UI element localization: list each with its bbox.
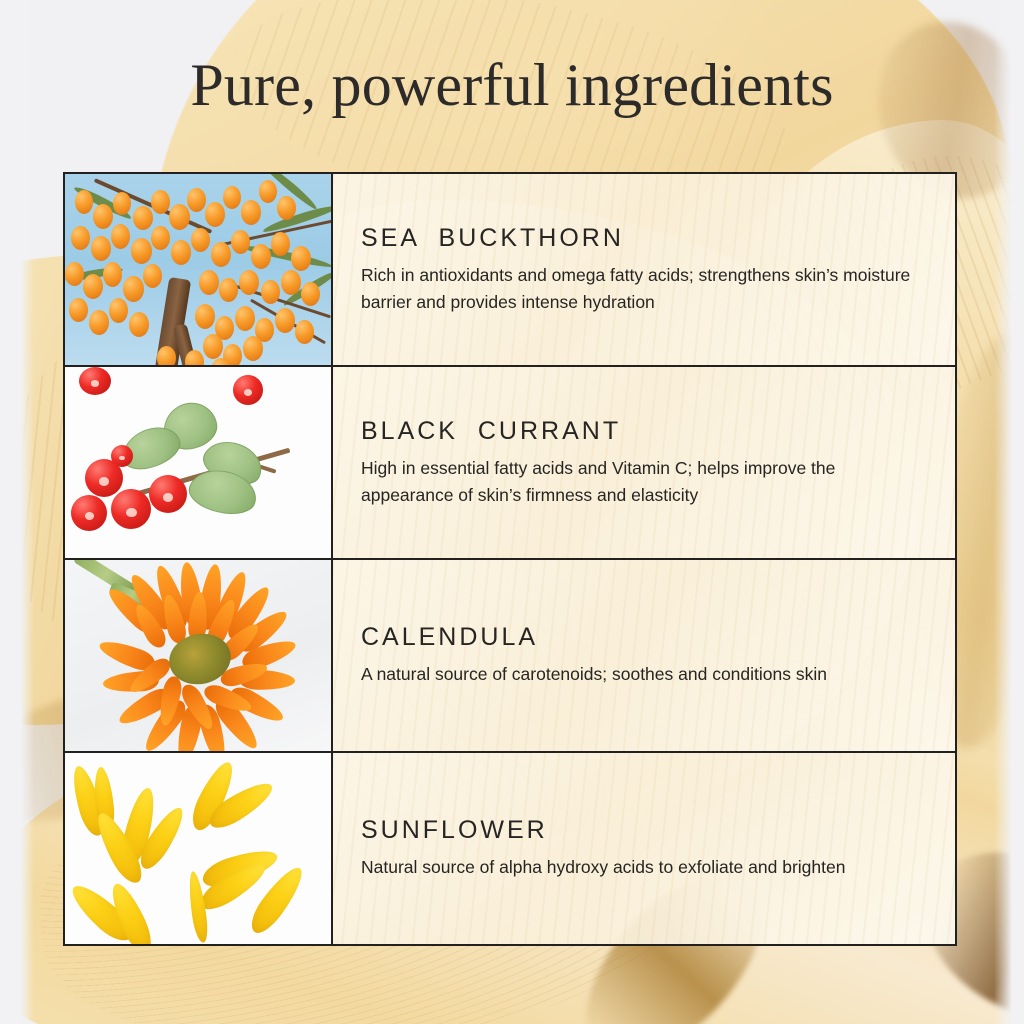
ingredient-name: CALENDULA bbox=[361, 623, 929, 652]
ingredient-description: High in essential fatty acids and Vitami… bbox=[361, 455, 929, 508]
ingredient-description: A natural source of carotenoids; soothes… bbox=[361, 661, 929, 688]
ingredient-image-black-currant bbox=[65, 367, 333, 558]
table-row: BLACK CURRANT High in essential fatty ac… bbox=[65, 367, 955, 560]
page-title: Pure, powerful ingredients bbox=[0, 52, 1024, 118]
ingredient-image-sea-buckthorn bbox=[65, 174, 333, 365]
ingredient-text-black-currant: BLACK CURRANT High in essential fatty ac… bbox=[333, 367, 955, 558]
background-edge-fade-left bbox=[0, 0, 34, 1024]
ingredient-description: Natural source of alpha hydroxy acids to… bbox=[361, 854, 929, 881]
ingredients-table: SEA BUCKTHORN Rich in antioxidants and o… bbox=[63, 172, 957, 946]
ingredient-image-sunflower bbox=[65, 753, 333, 944]
ingredient-name: BLACK CURRANT bbox=[361, 417, 929, 446]
table-row: SUNFLOWER Natural source of alpha hydrox… bbox=[65, 753, 955, 944]
ingredient-name: SEA BUCKTHORN bbox=[361, 224, 929, 253]
ingredient-name: SUNFLOWER bbox=[361, 816, 929, 845]
table-row: SEA BUCKTHORN Rich in antioxidants and o… bbox=[65, 174, 955, 367]
table-row: CALENDULA A natural source of carotenoid… bbox=[65, 560, 955, 753]
ingredient-text-calendula: CALENDULA A natural source of carotenoid… bbox=[333, 560, 955, 751]
ingredient-description: Rich in antioxidants and omega fatty aci… bbox=[361, 262, 929, 315]
background-edge-fade-right bbox=[994, 0, 1024, 1024]
ingredient-image-calendula bbox=[65, 560, 333, 751]
ingredient-text-sea-buckthorn: SEA BUCKTHORN Rich in antioxidants and o… bbox=[333, 174, 955, 365]
ingredient-text-sunflower: SUNFLOWER Natural source of alpha hydrox… bbox=[333, 753, 955, 944]
